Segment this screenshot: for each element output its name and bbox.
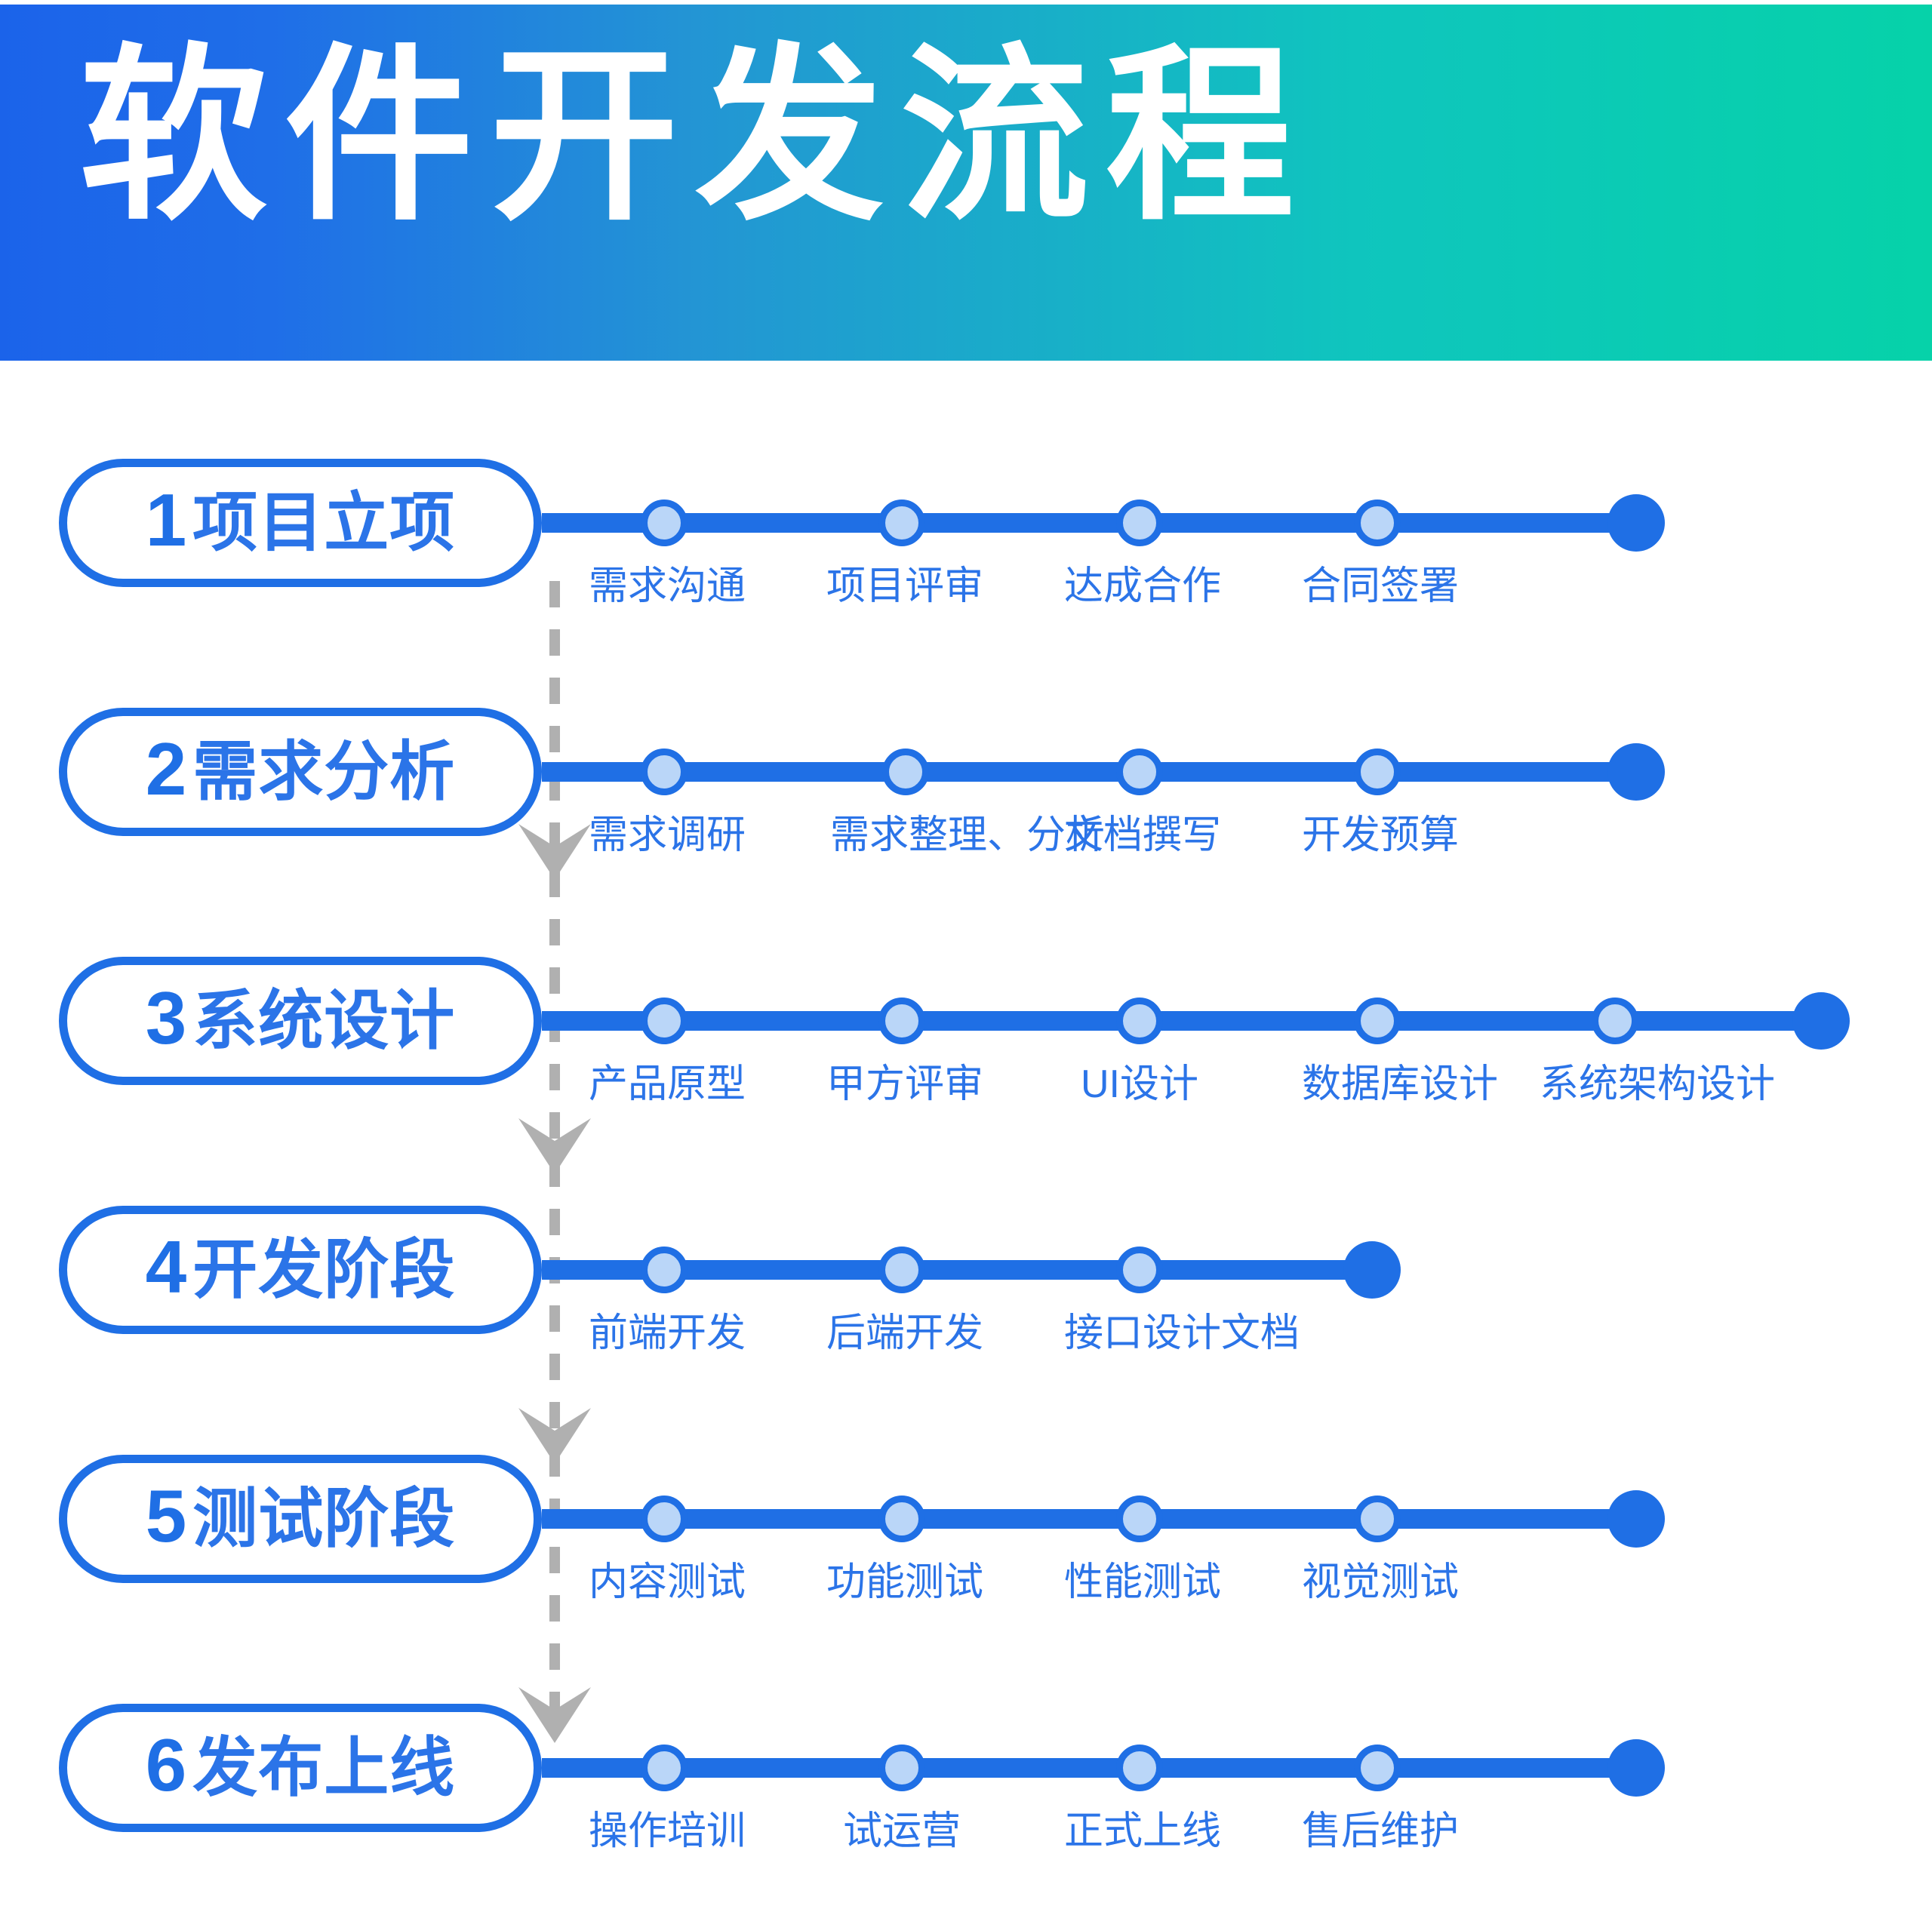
step-label: 视觉测试 (1302, 1559, 1453, 1606)
stage-pill-3[interactable]: 3 系统设计 (59, 957, 542, 1085)
stage-pill-1[interactable]: 1 项目立项 (59, 459, 542, 587)
stage-end-dot-icon (1343, 1241, 1401, 1299)
step-node[interactable]: 甲方评审 (826, 957, 977, 1108)
step-node[interactable]: 试运营 (826, 1704, 977, 1855)
step-dot-icon (641, 500, 688, 546)
step-label: 正式上线 (1064, 1808, 1215, 1855)
stage-name: 系统设计 (192, 988, 455, 1053)
step-dot-icon (641, 998, 688, 1044)
step-label: 需求沟通 (589, 563, 740, 610)
step-node[interactable]: 项目评审 (826, 459, 977, 610)
stage-number: 3 (146, 981, 187, 1055)
stage-end-dot-icon (1607, 743, 1665, 801)
step-node[interactable]: 内容测试 (589, 1455, 740, 1606)
step-dot-icon (878, 500, 925, 546)
step-node[interactable]: 前端开发 (589, 1206, 740, 1357)
step-node[interactable]: 系统架构设计 (1540, 957, 1690, 1108)
step-dot-icon (1354, 500, 1401, 546)
step-dot-icon (1354, 1745, 1401, 1791)
step-node[interactable]: 需求整理、分析 (830, 708, 981, 859)
step-dot-icon (641, 749, 688, 795)
step-dot-icon (1116, 998, 1163, 1044)
step-dot-icon (882, 749, 929, 795)
step-label: 后端开发 (826, 1310, 977, 1357)
stage-name: 项目立项 (192, 490, 455, 555)
step-label: 试运营 (826, 1808, 977, 1855)
stage-number: 1 (146, 483, 187, 557)
step-dot-icon (1116, 1745, 1163, 1791)
step-dot-icon (1116, 1496, 1163, 1542)
step-node[interactable]: 正式上线 (1064, 1704, 1215, 1855)
infographic-canvas: 软件开发流程 1 项目立项 需求沟通 项目评审 达成合作 (0, 0, 1932, 1909)
stage-pill-6[interactable]: 6 发布上线 (59, 1704, 542, 1832)
step-label: UI设计 (1064, 1061, 1215, 1108)
stage-end-dot-icon (1607, 1490, 1665, 1548)
stage-row: 1 项目立项 需求沟通 项目评审 达成合作 合同签署 (0, 459, 1932, 693)
step-node[interactable]: 合同签署 (1302, 459, 1453, 610)
stage-number: 4 (146, 1230, 187, 1304)
stage-end-dot-icon (1607, 494, 1665, 552)
step-node[interactable]: 需求沟通 (589, 459, 740, 610)
step-node[interactable]: 达成合作 (1064, 459, 1215, 610)
step-label: 文档撰写 (1064, 812, 1215, 859)
stage-end-dot-icon (1607, 1739, 1665, 1797)
stage-pill-2[interactable]: 2 需求分析 (59, 708, 542, 836)
step-dot-icon (878, 1247, 925, 1293)
step-label: 需求整理、分析 (830, 812, 981, 859)
step-label: 售后维护 (1302, 1808, 1453, 1855)
step-dot-icon (641, 1247, 688, 1293)
step-label: 产品原型 (589, 1061, 740, 1108)
step-label: 接口设计文档 (1064, 1310, 1215, 1357)
step-node[interactable]: 数据库设计 (1302, 957, 1453, 1108)
step-node[interactable]: 开发预算 (1302, 708, 1453, 859)
step-dot-icon (878, 998, 925, 1044)
step-dot-icon (1116, 1247, 1163, 1293)
step-label: 项目评审 (826, 563, 977, 610)
page-title: 软件开发流程 (79, 42, 1311, 231)
step-node[interactable]: 需求调研 (589, 708, 740, 859)
step-node[interactable]: 产品原型 (589, 957, 740, 1108)
stage-name: 发布上线 (192, 1735, 455, 1800)
step-dot-icon (1354, 749, 1401, 795)
step-label: 操作培训 (589, 1808, 740, 1855)
step-node[interactable]: 操作培训 (589, 1704, 740, 1855)
step-dot-icon (1116, 749, 1163, 795)
step-label: 内容测试 (589, 1559, 740, 1606)
step-label: 开发预算 (1302, 812, 1453, 859)
step-label: 数据库设计 (1302, 1061, 1453, 1108)
step-node[interactable]: 视觉测试 (1302, 1455, 1453, 1606)
step-dot-icon (1592, 998, 1638, 1044)
stage-row: 5 测试阶段 内容测试 功能测试 性能测试 视觉测试 (0, 1455, 1932, 1689)
stage-row: 4 开发阶段 前端开发 后端开发 接口设计文档 (0, 1206, 1932, 1440)
stage-row: 6 发布上线 操作培训 试运营 正式上线 售后维护 (0, 1704, 1932, 1909)
stage-pill-5[interactable]: 5 测试阶段 (59, 1455, 542, 1583)
header-banner: 软件开发流程 (0, 5, 1932, 361)
stage-name: 开发阶段 (192, 1237, 455, 1302)
step-node[interactable]: 功能测试 (826, 1455, 977, 1606)
stage-pill-4[interactable]: 4 开发阶段 (59, 1206, 542, 1334)
step-label: 甲方评审 (826, 1061, 977, 1108)
step-node[interactable]: UI设计 (1064, 957, 1215, 1108)
stage-end-dot-icon (1792, 992, 1850, 1050)
step-node[interactable]: 后端开发 (826, 1206, 977, 1357)
step-label: 前端开发 (589, 1310, 740, 1357)
step-label: 功能测试 (826, 1559, 977, 1606)
stage-name: 测试阶段 (192, 1486, 455, 1551)
step-node[interactable]: 接口设计文档 (1064, 1206, 1215, 1357)
stage-number: 6 (146, 1728, 187, 1802)
stage-name: 需求分析 (192, 739, 455, 804)
step-dot-icon (641, 1496, 688, 1542)
step-node[interactable]: 文档撰写 (1064, 708, 1215, 859)
step-dot-icon (878, 1745, 925, 1791)
step-node[interactable]: 性能测试 (1064, 1455, 1215, 1606)
step-label: 需求调研 (589, 812, 740, 859)
stage-number: 2 (146, 732, 187, 806)
step-label: 达成合作 (1064, 563, 1215, 610)
stage-row: 2 需求分析 需求调研 需求整理、分析 文档撰写 开发预算 (0, 708, 1932, 942)
stage-row: 3 系统设计 产品原型 甲方评审 UI设计 数据库设计 系统架构设计 (0, 957, 1932, 1191)
step-node[interactable]: 售后维护 (1302, 1704, 1453, 1855)
step-label: 合同签署 (1302, 563, 1453, 610)
step-dot-icon (1116, 500, 1163, 546)
step-dot-icon (641, 1745, 688, 1791)
step-label: 性能测试 (1064, 1559, 1215, 1606)
stage-number: 5 (146, 1479, 187, 1553)
step-dot-icon (1354, 998, 1401, 1044)
step-label: 系统架构设计 (1540, 1061, 1690, 1108)
step-dot-icon (878, 1496, 925, 1542)
step-dot-icon (1354, 1496, 1401, 1542)
